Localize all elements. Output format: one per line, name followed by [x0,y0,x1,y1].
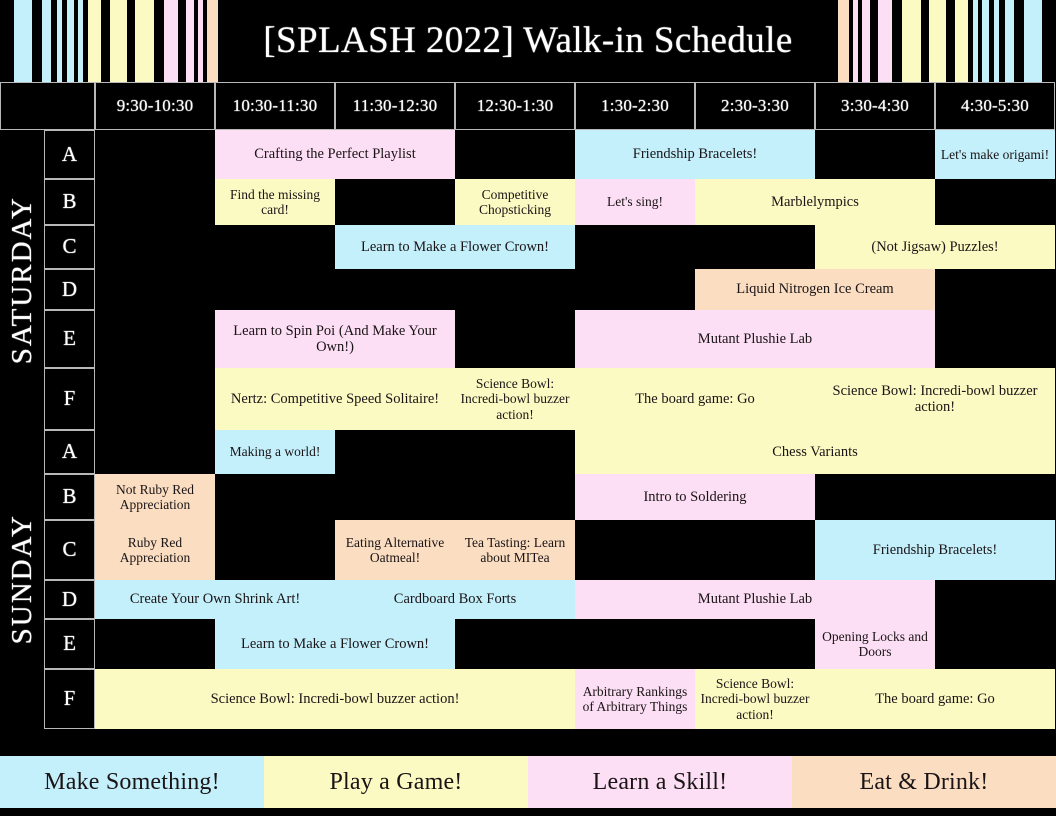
event-cell[interactable]: (Not Jigsaw) Puzzles! [815,225,1055,269]
banner-stripe [946,0,955,82]
banner-stripe [88,0,101,82]
event-cell[interactable]: Not Ruby Red Appreciation [95,474,215,520]
event-cell[interactable]: Create Your Own Shrink Art! [95,580,335,619]
room-letter-saturday-D: D [44,269,95,310]
room-letter-saturday-A: A [44,130,95,179]
event-cell[interactable]: Let's sing! [575,179,695,225]
banner-stripe [838,0,849,82]
banner-stripe [1024,0,1042,82]
event-cell[interactable]: Intro to Soldering [575,474,815,520]
event-cell[interactable]: Tea Tasting: Learn about MITea [455,520,575,580]
banner-stripe [127,0,135,82]
time-column-header-4: 12:30-1:30 [455,82,575,130]
banner-stripe [878,0,892,82]
event-cell[interactable]: Opening Locks and Doors [815,619,935,669]
room-letter-saturday-E: E [44,310,95,368]
banner-stripe [849,0,853,82]
banner-stripe [989,0,994,82]
room-letter-sunday-D: D [44,580,95,619]
grid-corner [0,82,95,130]
banner-stripe [207,0,218,82]
time-column-header-6: 2:30-3:30 [695,82,815,130]
banner-stripe [929,0,946,82]
banner-stripe [921,0,929,82]
stripe-decoration-right [756,0,1056,82]
banner-stripe [135,0,154,82]
event-cell[interactable]: The board game: Go [815,669,1055,729]
day-label-text: SATURDAY [6,196,38,364]
banner-stripe [164,0,178,82]
banner-stripe [955,0,968,82]
banner-stripe [154,0,164,82]
legend-item-1[interactable]: Make Something! [0,756,264,808]
event-cell[interactable]: Cardboard Box Forts [335,580,575,619]
event-cell[interactable]: Ruby Red Appreciation [95,520,215,580]
event-cell[interactable]: Learn to Spin Poi (And Make Your Own!) [215,310,455,368]
banner-stripe [994,0,999,82]
banner-stripe [862,0,870,82]
time-column-header-3: 11:30-12:30 [335,82,455,130]
event-cell[interactable]: Arbitrary Rankings of Arbitrary Things [575,669,695,729]
event-cell[interactable]: Marblelympics [695,179,935,225]
time-column-header-8: 4:30-5:30 [935,82,1055,130]
legend: Make Something!Play a Game!Learn a Skill… [0,756,1056,808]
event-cell[interactable]: Find the missing card! [215,179,335,225]
event-cell[interactable]: Science Bowl: Incredi-bowl buzzer action… [455,368,575,430]
banner-stripe [853,0,858,82]
event-cell[interactable]: Nertz: Competitive Speed Solitaire! [215,368,455,430]
banner-stripe [902,0,921,82]
room-letter-sunday-A: A [44,430,95,474]
banner-stripe [32,0,42,82]
room-letter-sunday-B: B [44,474,95,520]
event-cell[interactable]: Chess Variants [575,430,1055,474]
event-cell[interactable]: Let's make origami! [935,130,1055,179]
banner-stripe [999,0,1005,82]
banner-stripe [67,0,74,82]
page-title: [SPLASH 2022] Walk-in Schedule [223,19,832,64]
event-cell[interactable]: Eating Alternative Oatmeal! [335,520,455,580]
event-cell[interactable]: Liquid Nitrogen Ice Cream [695,269,935,310]
banner-stripe [978,0,982,82]
event-cell[interactable]: Making a world! [215,430,335,474]
banner-stripe [1005,0,1014,82]
banner-stripe [1042,0,1056,82]
event-cell[interactable]: Learn to Make a Flower Crown! [215,619,455,669]
event-cell[interactable]: Friendship Bracelets! [815,520,1055,580]
event-cell[interactable]: The board game: Go [575,368,815,430]
banner-stripe [892,0,902,82]
legend-item-4[interactable]: Eat & Drink! [792,756,1056,808]
time-column-header-2: 10:30-11:30 [215,82,335,130]
banner-stripe [0,0,14,82]
room-letter-saturday-B: B [44,179,95,225]
banner-stripe [870,0,878,82]
page-bottom-border [0,808,1056,816]
banner: [SPLASH 2022] Walk-in Schedule [0,0,1056,82]
event-cell[interactable]: Learn to Make a Flower Crown! [335,225,575,269]
time-column-header-1: 9:30-10:30 [95,82,215,130]
event-cell[interactable]: Mutant Plushie Lab [575,580,935,619]
legend-item-3[interactable]: Learn a Skill! [528,756,792,808]
event-cell[interactable]: Science Bowl: Incredi-bowl buzzer action… [815,368,1055,430]
banner-stripe [42,0,51,82]
legend-item-2[interactable]: Play a Game! [264,756,528,808]
schedule-page: [SPLASH 2022] Walk-in Schedule 9:30-10:3… [0,0,1056,816]
event-cell[interactable]: Crafting the Perfect Playlist [215,130,455,179]
banner-stripe [982,0,989,82]
room-letter-sunday-E: E [44,619,95,669]
banner-stripe [968,0,973,82]
time-column-header-5: 1:30-2:30 [575,82,695,130]
banner-stripe [110,0,127,82]
day-label-saturday: SATURDAY [0,130,44,430]
banner-stripe [101,0,110,82]
room-letter-sunday-F: F [44,669,95,729]
banner-stripe [218,0,300,82]
event-cell[interactable]: Competitive Chopsticking [455,179,575,225]
banner-stripe [186,0,194,82]
event-cell[interactable]: Science Bowl: Incredi-bowl buzzer action… [695,669,815,729]
banner-stripe [973,0,978,82]
room-letter-sunday-C: C [44,520,95,580]
event-cell[interactable]: Friendship Bracelets! [575,130,815,179]
banner-stripe [1014,0,1024,82]
banner-stripe [756,0,838,82]
banner-stripe [858,0,862,82]
banner-stripe [14,0,32,82]
time-column-header-7: 3:30-4:30 [815,82,935,130]
room-letter-saturday-C: C [44,225,95,269]
day-label-text: SUNDAY [6,514,38,644]
stripe-decoration-left [0,0,300,82]
day-label-sunday: SUNDAY [0,430,44,729]
room-letter-saturday-F: F [44,368,95,430]
schedule-grid: 9:30-10:3010:30-11:3011:30-12:3012:30-1:… [0,82,1056,750]
event-cell[interactable]: Science Bowl: Incredi-bowl buzzer action… [95,669,575,729]
banner-stripe [178,0,186,82]
event-cell[interactable]: Mutant Plushie Lab [575,310,935,368]
